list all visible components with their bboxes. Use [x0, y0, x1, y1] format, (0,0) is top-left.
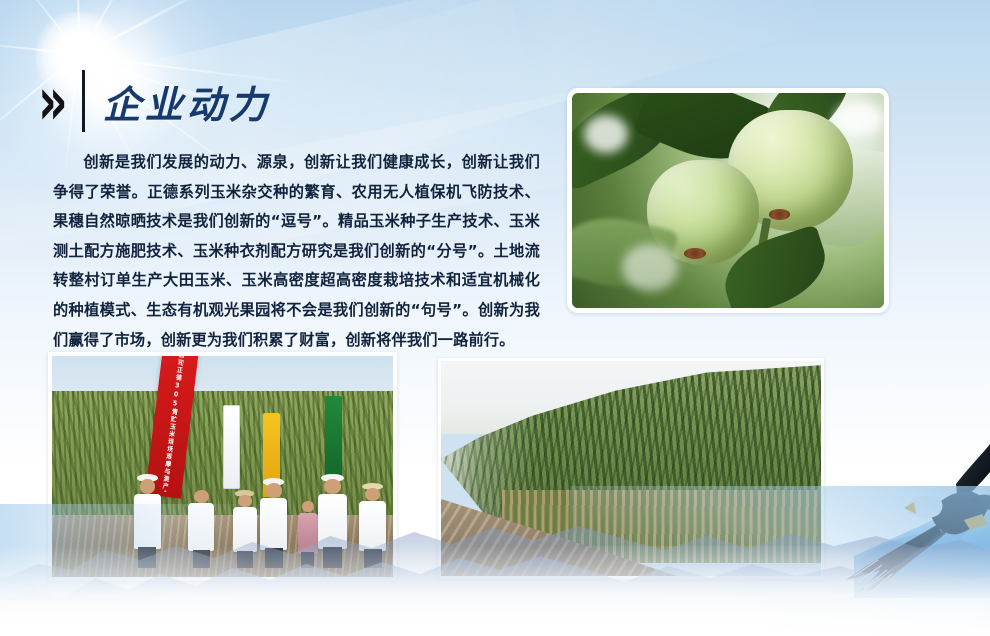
sun-ray — [0, 40, 79, 55]
flying-eagle-icon — [838, 438, 990, 598]
sun-ray — [79, 0, 136, 56]
header-divider — [82, 70, 85, 132]
page-title: 企业动力 — [103, 74, 271, 129]
sun-ray — [79, 0, 231, 58]
double-chevron-right-icon: » — [38, 68, 64, 135]
section-header: » 企业动力 — [38, 66, 271, 136]
sun-ray — [74, 0, 81, 55]
brochure-page: » 企业动力 创新是我们发展的动力、源泉，创新让我们健康成长，创新让我们争得了荣… — [0, 0, 990, 636]
photo-green-pears — [567, 88, 889, 313]
event-banner-text: 公司正德305青贮玉米现场观摩与测产会 — [160, 356, 185, 492]
photo-corn-rows — [438, 358, 824, 579]
photo-field-meeting: 公司正德305青贮玉米现场观摩与测产会 — [48, 352, 397, 581]
body-paragraph: 创新是我们发展的动力、源泉，创新让我们健康成长，创新让我们争得了荣誉。正德系列玉… — [53, 148, 540, 355]
sun-ray — [17, 0, 80, 55]
